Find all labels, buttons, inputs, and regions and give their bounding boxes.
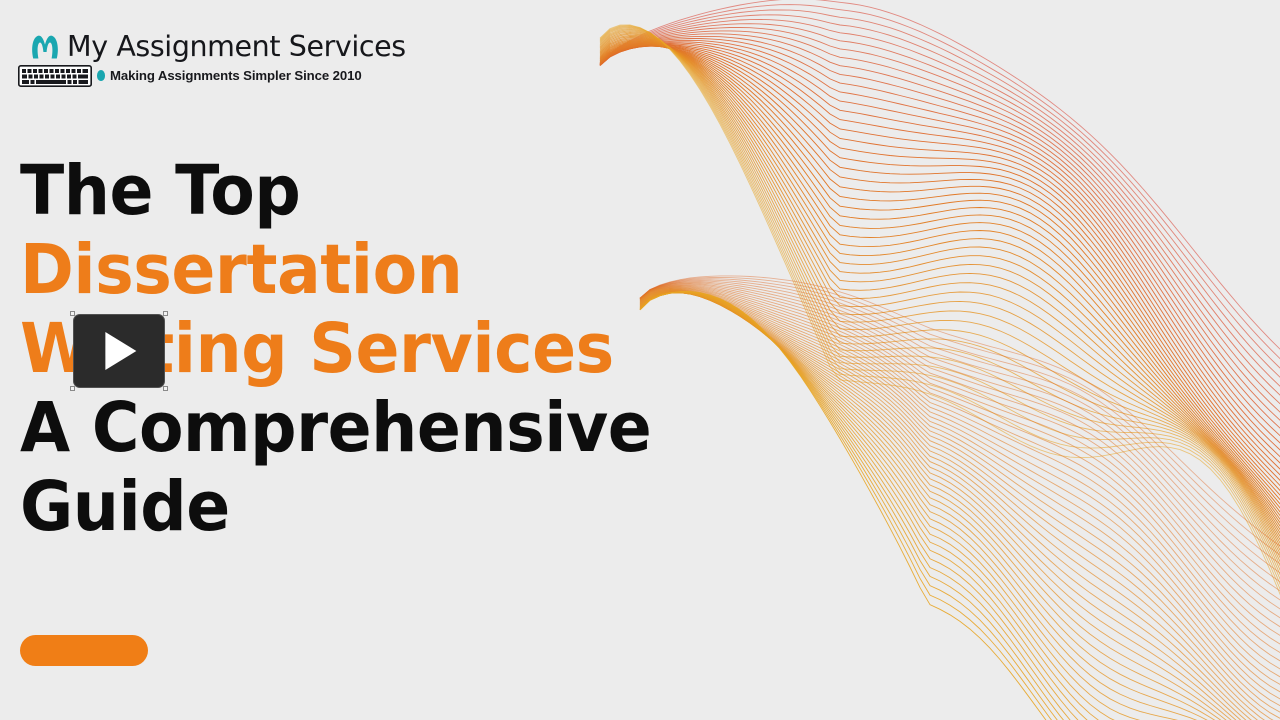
wave-line [640,292,1240,720]
wave-line [640,287,1280,677]
wave-line [640,293,1240,720]
headline-line-1: The Top [20,152,678,231]
headline-line-4: A Comprehensive [20,389,678,468]
headline-line-5: Guide [20,468,678,547]
cta-button[interactable] [20,635,148,666]
wave-line [640,279,1280,598]
wave-line [640,291,1280,720]
wave-line [640,285,1280,650]
wave-line [640,291,1280,720]
wave-line [640,291,1280,720]
wave-line [640,286,1280,670]
wave-line [640,292,1260,720]
selection-handle-bottom-right[interactable] [163,386,168,391]
wave-line [640,277,1280,590]
wave-line [640,290,1280,720]
wave-line [640,289,1280,703]
wave-line [640,292,1260,720]
wave-line [640,291,1270,720]
wave-line [640,276,1280,582]
wave-line [640,292,1250,720]
selection-handle-top-left[interactable] [70,311,75,316]
wave-line [640,284,1280,642]
wave-line [640,290,1280,720]
wave-line [640,280,1280,605]
wave-line [640,293,1230,720]
wave-line [640,293,1240,720]
wave-line [640,292,1250,720]
teal-dot-icon [97,70,105,81]
wave-line [640,293,1220,720]
wave-line [640,289,1280,715]
wave-line [640,285,1280,656]
wave-line [640,286,1280,664]
wave-line [640,288,1280,691]
wave-line [640,290,1280,720]
headline-line-2: Dissertation [20,231,678,310]
logo-secondary-row: Making Assignments Simpler Since 2010 [18,65,362,87]
video-play-button[interactable] [73,314,165,388]
wave-line [640,283,1280,628]
keyboard-icon [18,65,92,87]
play-button-background [73,314,165,388]
presentation-slide: My Assignment Services [0,0,1280,720]
wave-line [640,281,1280,613]
letter-m-logo-icon [30,34,60,60]
wave-line [640,287,1280,683]
wave-line [640,282,1280,620]
wave-line [640,288,1280,696]
brand-wordmark: My Assignment Services [67,33,406,62]
selection-handle-top-right[interactable] [163,311,168,316]
wave-line [640,293,1230,720]
brand-logo[interactable]: My Assignment Services [18,33,406,87]
wave-line [640,293,1180,720]
brand-tagline: Making Assignments Simpler Since 2010 [110,69,362,82]
selection-handle-bottom-left[interactable] [70,386,75,391]
play-button-icon [105,332,136,370]
wave-line [640,293,1210,720]
logo-primary-row: My Assignment Services [30,33,406,62]
wave-line [640,283,1280,634]
wave-line [640,289,1280,709]
